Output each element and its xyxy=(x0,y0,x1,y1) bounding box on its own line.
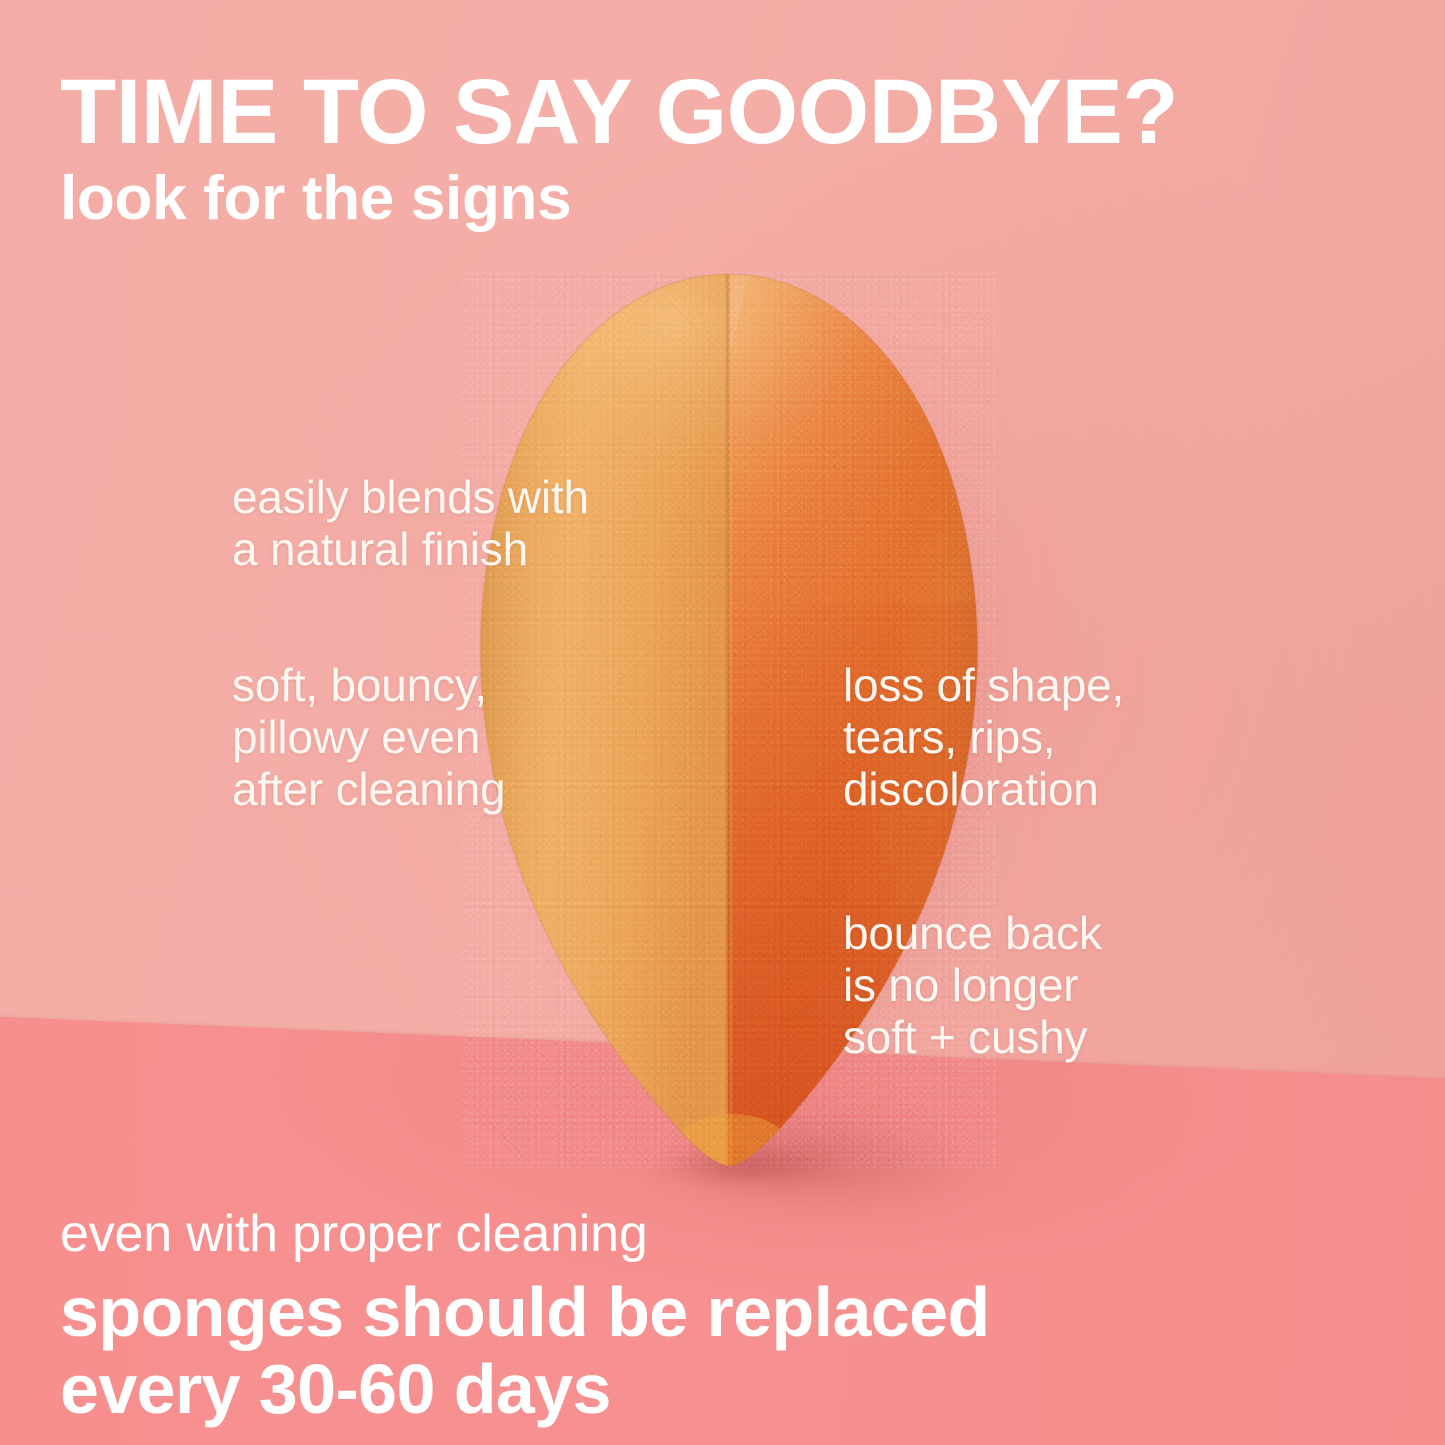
footer-callout: even with proper cleaning sponges should… xyxy=(60,1208,990,1428)
feature-line: loss of shape, xyxy=(843,660,1124,712)
feature-line: a natural finish xyxy=(232,524,589,576)
feature-loss-of-shape: loss of shape, tears, rips, discoloratio… xyxy=(843,660,1124,816)
feature-line: soft + cushy xyxy=(843,1012,1102,1064)
feature-line: soft, bouncy, xyxy=(232,660,505,712)
feature-line: easily blends with xyxy=(232,472,589,524)
footer-lead-line: even with proper cleaning xyxy=(60,1208,990,1260)
page-title: TIME TO SAY GOODBYE? xyxy=(60,66,1178,158)
page-subtitle: look for the signs xyxy=(60,168,571,230)
feature-soft-bouncy: soft, bouncy, pillowy even after cleanin… xyxy=(232,660,505,816)
feature-line: after cleaning xyxy=(232,764,505,816)
feature-bounce-back: bounce back is no longer soft + cushy xyxy=(843,908,1102,1064)
feature-line: tears, rips, xyxy=(843,712,1124,764)
footer-line: sponges should be replaced xyxy=(60,1274,990,1351)
footer-line: every 30-60 days xyxy=(60,1351,990,1428)
feature-line: pillowy even xyxy=(232,712,505,764)
infographic-canvas: TIME TO SAY GOODBYE? look for the signs … xyxy=(0,0,1445,1445)
feature-easily-blends: easily blends with a natural finish xyxy=(232,472,589,576)
feature-line: discoloration xyxy=(843,764,1124,816)
feature-line: bounce back xyxy=(843,908,1102,960)
feature-line: is no longer xyxy=(843,960,1102,1012)
footer-emphasis: sponges should be replaced every 30-60 d… xyxy=(60,1274,990,1428)
